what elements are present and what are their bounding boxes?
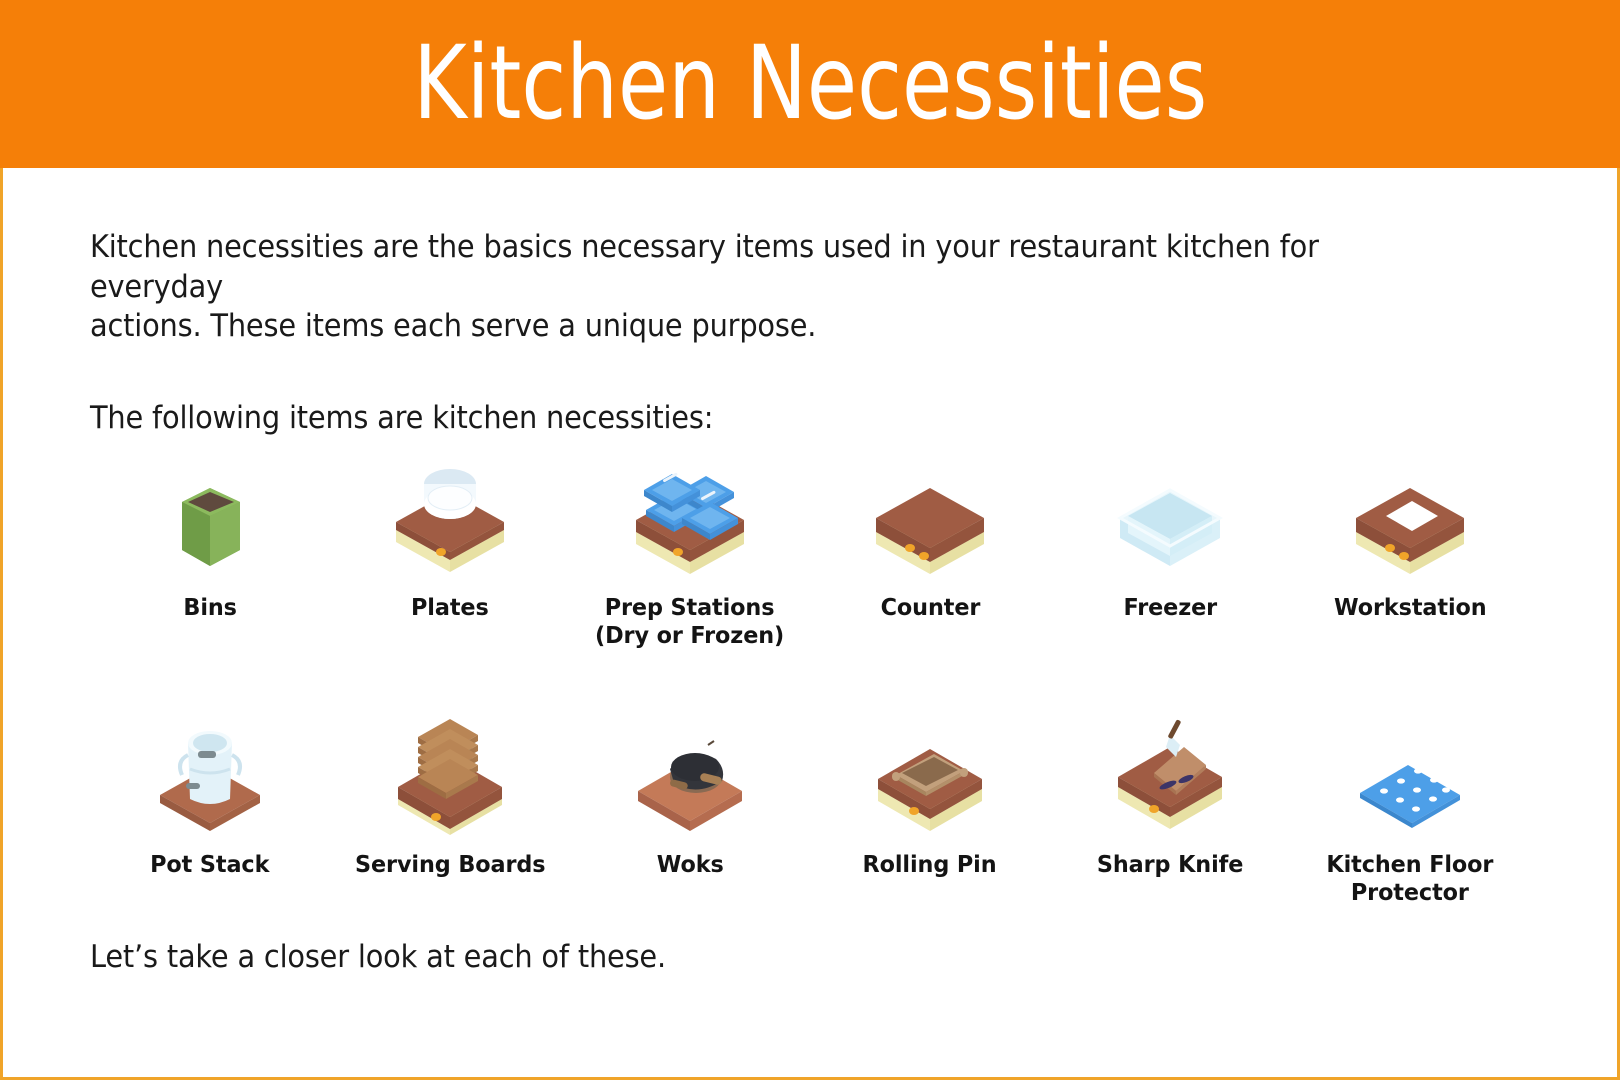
item-prep-stations[interactable]: Prep Stations (Dry or Frozen) bbox=[570, 458, 810, 649]
plate-stack-counter-icon bbox=[375, 458, 525, 578]
item-label: Prep Stations (Dry or Frozen) bbox=[595, 594, 784, 649]
floor-protector-mat-icon bbox=[1335, 705, 1485, 835]
item-rolling-pin[interactable]: Rolling Pin bbox=[810, 705, 1050, 906]
sharp-knife-icon bbox=[1095, 705, 1245, 835]
intro-paragraph-line2: actions. These items each serve a unique… bbox=[90, 307, 1431, 347]
pot-stack-icon bbox=[135, 705, 285, 835]
necessities-grid: Bins bbox=[90, 458, 1530, 907]
wok-icon bbox=[615, 705, 765, 835]
item-label: Rolling Pin bbox=[863, 851, 997, 879]
prep-station-icon bbox=[615, 458, 765, 578]
content-area: Kitchen necessities are the basics neces… bbox=[0, 168, 1620, 1080]
item-label: Freezer bbox=[1123, 594, 1217, 622]
rolling-pin-icon bbox=[855, 705, 1005, 835]
item-woks[interactable]: Woks bbox=[570, 705, 810, 906]
serving-boards-icon bbox=[375, 705, 525, 835]
item-bins[interactable]: Bins bbox=[90, 458, 330, 649]
necessities-row-2: Pot Stack bbox=[90, 705, 1530, 906]
item-sharp-knife[interactable]: Sharp Knife bbox=[1050, 705, 1290, 906]
item-counter[interactable]: Counter bbox=[810, 458, 1050, 649]
item-workstation[interactable]: Workstation bbox=[1290, 458, 1530, 649]
trash-bin-icon bbox=[135, 458, 285, 578]
item-label: Pot Stack bbox=[150, 851, 269, 879]
item-label: Serving Boards bbox=[355, 851, 545, 879]
counter-icon bbox=[855, 458, 1005, 578]
item-plates[interactable]: Plates bbox=[330, 458, 570, 649]
item-serving-boards[interactable]: Serving Boards bbox=[330, 705, 570, 906]
necessities-row-1: Bins bbox=[90, 458, 1530, 649]
item-label: Bins bbox=[183, 594, 236, 622]
slide-page: Kitchen Necessities Kitchen necessities … bbox=[0, 0, 1620, 1080]
item-pot-stack[interactable]: Pot Stack bbox=[90, 705, 330, 906]
intro-paragraph-line1: Kitchen necessities are the basics neces… bbox=[90, 228, 1431, 307]
item-label: Sharp Knife bbox=[1097, 851, 1243, 879]
page-header: Kitchen Necessities bbox=[0, 0, 1620, 168]
closing-text-wrap: Let’s take a closer look at each of thes… bbox=[90, 938, 709, 978]
item-label: Workstation bbox=[1334, 594, 1487, 622]
closing-paragraph: Let’s take a closer look at each of thes… bbox=[90, 938, 666, 978]
list-lead-text: The following items are kitchen necessit… bbox=[90, 399, 1431, 439]
item-label: Plates bbox=[411, 594, 489, 622]
page-title: Kitchen Necessities bbox=[413, 33, 1207, 135]
item-label: Counter bbox=[880, 594, 980, 622]
item-freezer[interactable]: Freezer bbox=[1050, 458, 1290, 649]
item-label: Woks bbox=[657, 851, 724, 879]
workstation-icon bbox=[1335, 458, 1485, 578]
item-label: Kitchen Floor Protector bbox=[1327, 851, 1494, 906]
freezer-bin-icon bbox=[1095, 458, 1245, 578]
item-kitchen-floor-protector[interactable]: Kitchen Floor Protector bbox=[1290, 705, 1530, 906]
